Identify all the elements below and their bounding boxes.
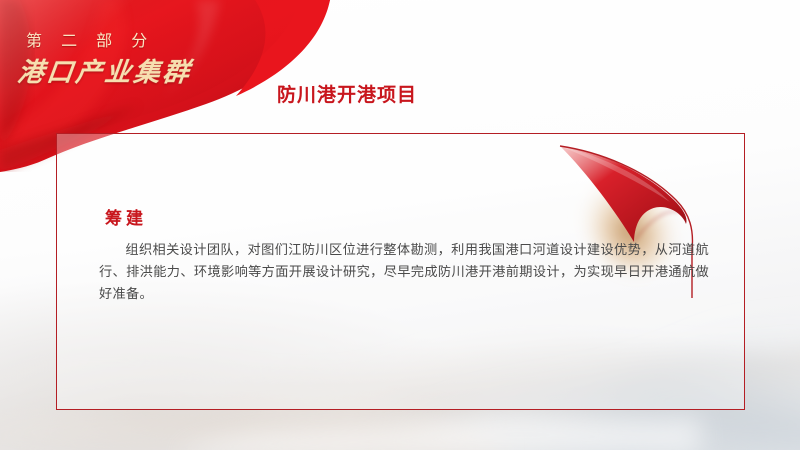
- body-paragraph: 组织相关设计团队，对图们江防川区位进行整体勘测，利用我国港口河道设计建设优势，从…: [99, 240, 709, 306]
- content-box: 筹建 组织相关设计团队，对图们江防川区位进行整体勘测，利用我国港口河道设计建设优…: [56, 133, 745, 410]
- content-box-inner: 筹建 组织相关设计团队，对图们江防川区位进行整体勘测，利用我国港口河道设计建设优…: [57, 134, 744, 409]
- page-title: 防川港开港项目: [277, 80, 417, 107]
- section-title: 港口产业集群: [16, 52, 195, 89]
- section-label: 第 二 部 分: [26, 27, 154, 51]
- banner-text-group: 第 二 部 分 港口产业集群: [0, 0, 300, 110]
- slide: 第 二 部 分 港口产业集群 防川港开港项目: [0, 0, 800, 450]
- section-heading: 筹建: [105, 204, 147, 229]
